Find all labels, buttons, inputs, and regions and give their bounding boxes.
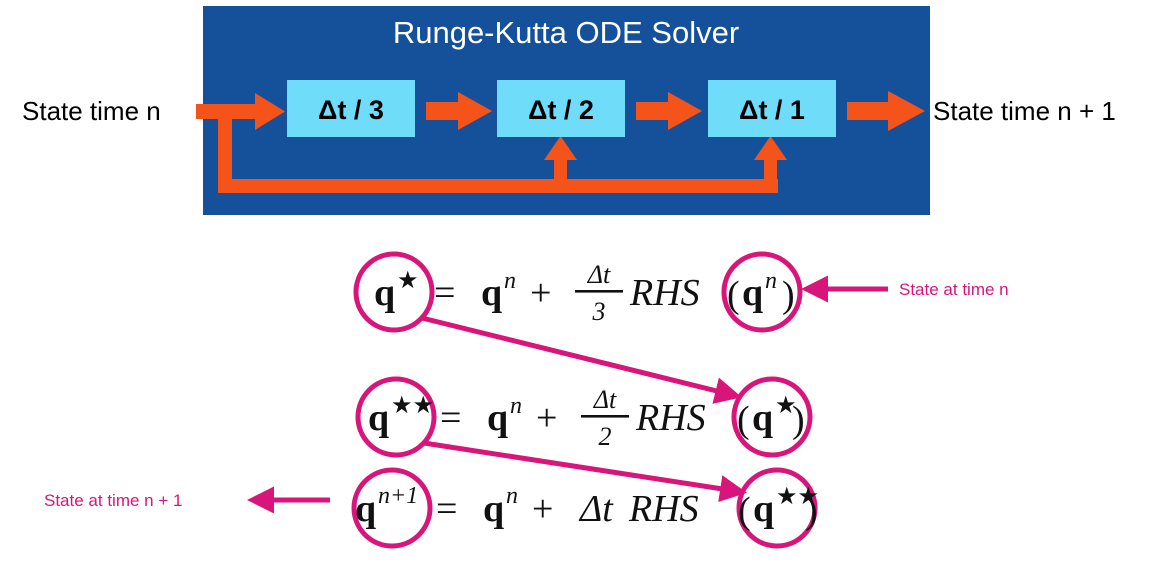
stage-box-1-label: Δt / 3 — [318, 95, 384, 125]
exit-arrow-shaft — [847, 102, 892, 120]
connector-qstarstar-to-eq3 — [424, 443, 742, 492]
equation-2-arg-base: q — [752, 397, 773, 439]
equation-1-lhs-base: q — [374, 272, 395, 314]
equation-1-lhs-sup: ★ — [397, 268, 419, 294]
equation-3-plus: + — [532, 488, 553, 530]
equation-3: q n+1 = q n + Δt RHS ( q ★★ ) — [354, 470, 819, 546]
equation-1-plus: + — [530, 272, 551, 314]
equation-3-rhs-base: q — [483, 488, 504, 530]
equation-2-rhs-sup: n — [510, 393, 522, 419]
equation-2-function: RHS — [635, 397, 706, 439]
equation-3-coefficient: Δt — [578, 488, 614, 530]
panel-title: Runge-Kutta ODE Solver — [393, 15, 739, 50]
equation-3-equals: = — [436, 488, 457, 530]
equation-2-open-paren: ( — [737, 399, 750, 441]
equation-1-frac-numerator: Δt — [587, 260, 611, 289]
equation-1-arg-sup: n — [765, 268, 777, 294]
diagram-canvas: Runge-Kutta ODE Solver Δt / 3 — [0, 0, 1170, 569]
annotation-state-n-plus-1-label: State at time n + 1 — [44, 491, 182, 510]
equation-2-lhs-base: q — [368, 397, 389, 439]
equation-3-function: RHS — [628, 488, 699, 530]
equation-3-open-paren: ( — [738, 490, 751, 532]
equation-3-lhs-base: q — [355, 488, 376, 530]
input-state-label: State time n — [22, 96, 161, 126]
equation-1-equals: = — [434, 272, 455, 314]
annotation-state-n-label: State at time n — [899, 280, 1009, 299]
equation-2-rhs-base: q — [487, 397, 508, 439]
equation-2-plus: + — [536, 397, 557, 439]
solver-flow-panel: Runge-Kutta ODE Solver Δt / 3 — [196, 6, 930, 215]
equation-2-close-paren: ) — [792, 399, 805, 441]
equation-3-rhs-sup: n — [506, 483, 518, 509]
equation-2-frac-denominator: 2 — [599, 422, 612, 451]
equation-1-rhs-base: q — [481, 272, 502, 314]
equation-1-close-paren: ) — [782, 274, 795, 316]
stage-box-3-label: Δt / 1 — [739, 95, 805, 125]
feedback-riser-left — [218, 108, 232, 187]
equation-2-frac-numerator: Δt — [593, 385, 617, 414]
output-state-label: State time n + 1 — [933, 96, 1116, 126]
feedback-bus — [218, 179, 778, 193]
equation-1-frac-denominator: 3 — [592, 297, 606, 326]
equation-1-function: RHS — [629, 272, 700, 314]
stage-box-1[interactable]: Δt / 3 — [287, 80, 415, 137]
stage-box-3[interactable]: Δt / 1 — [708, 80, 836, 137]
equation-3-close-paren: ) — [805, 490, 818, 532]
equation-1-open-paren: ( — [727, 274, 740, 316]
connector-qstar-to-eq2 — [422, 318, 737, 396]
equation-2-lhs-sup: ★★ — [391, 393, 434, 419]
equation-2-equals: = — [440, 397, 461, 439]
equation-1-rhs-sup: n — [504, 268, 516, 294]
equation-3-lhs-sup: n+1 — [378, 483, 418, 509]
equation-3-arg-base: q — [753, 488, 774, 530]
stage-box-2-label: Δt / 2 — [528, 95, 594, 125]
equation-2-frac-bar — [581, 415, 629, 418]
equation-1-frac-bar — [575, 290, 623, 293]
stage-box-2[interactable]: Δt / 2 — [497, 80, 625, 137]
equation-1-arg-base: q — [742, 272, 763, 314]
